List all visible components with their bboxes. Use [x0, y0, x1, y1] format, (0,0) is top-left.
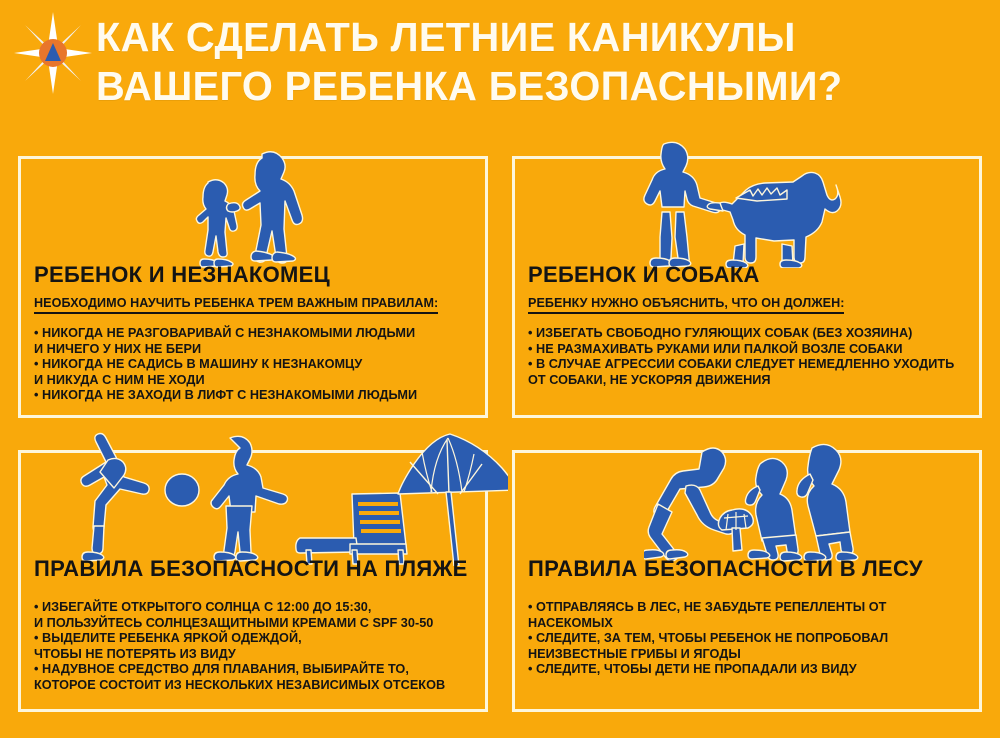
list-item: • НИКОГДА НЕ ЗАХОДИ В ЛИФТ С НЕЗНАКОМЫМИ…: [34, 388, 472, 404]
card-subtitle-spacer: [528, 588, 966, 600]
card-subtitle: РЕБЕНКУ НУЖНО ОБЪЯСНИТЬ, ЧТО ОН ДОЛЖЕН:: [528, 296, 844, 314]
list-item: • НИКОГДА НЕ РАЗГОВАРИВАЙ С НЕЗНАКОМЫМИ …: [34, 326, 472, 357]
list-item: • НИКОГДА НЕ САДИСЬ В МАШИНУ К НЕЗНАКОМЦ…: [34, 357, 472, 388]
list-item: • ВЫДЕЛИТЕ РЕБЕНКА ЯРКОЙ ОДЕЖДОЙ, ЧТОБЫ …: [34, 631, 472, 662]
card-content-child-and-dog: РЕБЕНОК И СОБАКА РЕБЕНКУ НУЖНО ОБЪЯСНИТЬ…: [512, 262, 982, 388]
list-item: • ОТПРАВЛЯЯСЬ В ЛЕС, НЕ ЗАБУДЬТЕ РЕПЕЛЛЕ…: [528, 600, 966, 631]
list-item: • НАДУВНОЕ СРЕДСТВО ДЛЯ ПЛАВАНИЯ, ВЫБИРА…: [34, 662, 472, 693]
poster-title: КАК СДЕЛАТЬ ЛЕТНИЕ КАНИКУЛЫ ВАШЕГО РЕБЕН…: [96, 14, 992, 110]
list-item: • В СЛУЧАЕ АГРЕССИИ СОБАКИ СЛЕДУЕТ НЕМЕД…: [528, 357, 966, 388]
list-item: • ИЗБЕГАТЬ СВОБОДНО ГУЛЯЮЩИХ СОБАК (БЕЗ …: [528, 326, 966, 342]
card-content-beach-safety: ПРАВИЛА БЕЗОПАСНОСТИ НА ПЛЯЖЕ • ИЗБЕГАЙТ…: [18, 556, 488, 694]
card-subtitle: НЕОБХОДИМО НАУЧИТЬ РЕБЕНКА ТРЕМ ВАЖНЫМ П…: [34, 296, 438, 314]
list-item: • НЕ РАЗМАХИВАТЬ РУКАМИ ИЛИ ПАЛКОЙ ВОЗЛЕ…: [528, 342, 966, 358]
title-line-1: КАК СДЕЛАТЬ ЛЕТНИЕ КАНИКУЛЫ: [96, 14, 965, 61]
rules-list: • ИЗБЕГАЙТЕ ОТКРЫТОГО СОЛНЦА С 12:00 ДО …: [34, 600, 472, 694]
card-content-forest-safety: ПРАВИЛА БЕЗОПАСНОСТИ В ЛЕСУ • ОТПРАВЛЯЯС…: [512, 556, 982, 678]
card-title: ПРАВИЛА БЕЗОПАСНОСТИ НА ПЛЯЖЕ: [34, 556, 472, 582]
card-title: РЕБЕНОК И НЕЗНАКОМЕЦ: [34, 262, 472, 288]
list-item: • ИЗБЕГАЙТЕ ОТКРЫТОГО СОЛНЦА С 12:00 ДО …: [34, 600, 472, 631]
rules-list: • ИЗБЕГАТЬ СВОБОДНО ГУЛЯЮЩИХ СОБАК (БЕЗ …: [528, 326, 966, 388]
card-content-child-and-stranger: РЕБЕНОК И НЕЗНАКОМЕЦ НЕОБХОДИМО НАУЧИТЬ …: [18, 262, 488, 404]
rules-list: • НИКОГДА НЕ РАЗГОВАРИВАЙ С НЕЗНАКОМЫМИ …: [34, 326, 472, 404]
rules-list: • ОТПРАВЛЯЯСЬ В ЛЕС, НЕ ЗАБУДЬТЕ РЕПЕЛЛЕ…: [528, 600, 966, 678]
card-title: ПРАВИЛА БЕЗОПАСНОСТИ В ЛЕСУ: [528, 556, 966, 582]
card-subtitle-spacer: [34, 588, 472, 600]
title-line-2: ВАШЕГО РЕБЕНКА БЕЗОПАСНЫМИ?: [96, 63, 965, 110]
card-title: РЕБЕНОК И СОБАКА: [528, 262, 966, 288]
emercom-star-logo: [14, 12, 92, 94]
list-item: • СЛЕДИТЕ, ЗА ТЕМ, ЧТОБЫ РЕБЕНОК НЕ ПОПР…: [528, 631, 966, 662]
list-item: • СЛЕДИТЕ, ЧТОБЫ ДЕТИ НЕ ПРОПАДАЛИ ИЗ ВИ…: [528, 662, 966, 678]
poster-header: КАК СДЕЛАТЬ ЛЕТНИЕ КАНИКУЛЫ ВАШЕГО РЕБЕН…: [0, 0, 1000, 128]
